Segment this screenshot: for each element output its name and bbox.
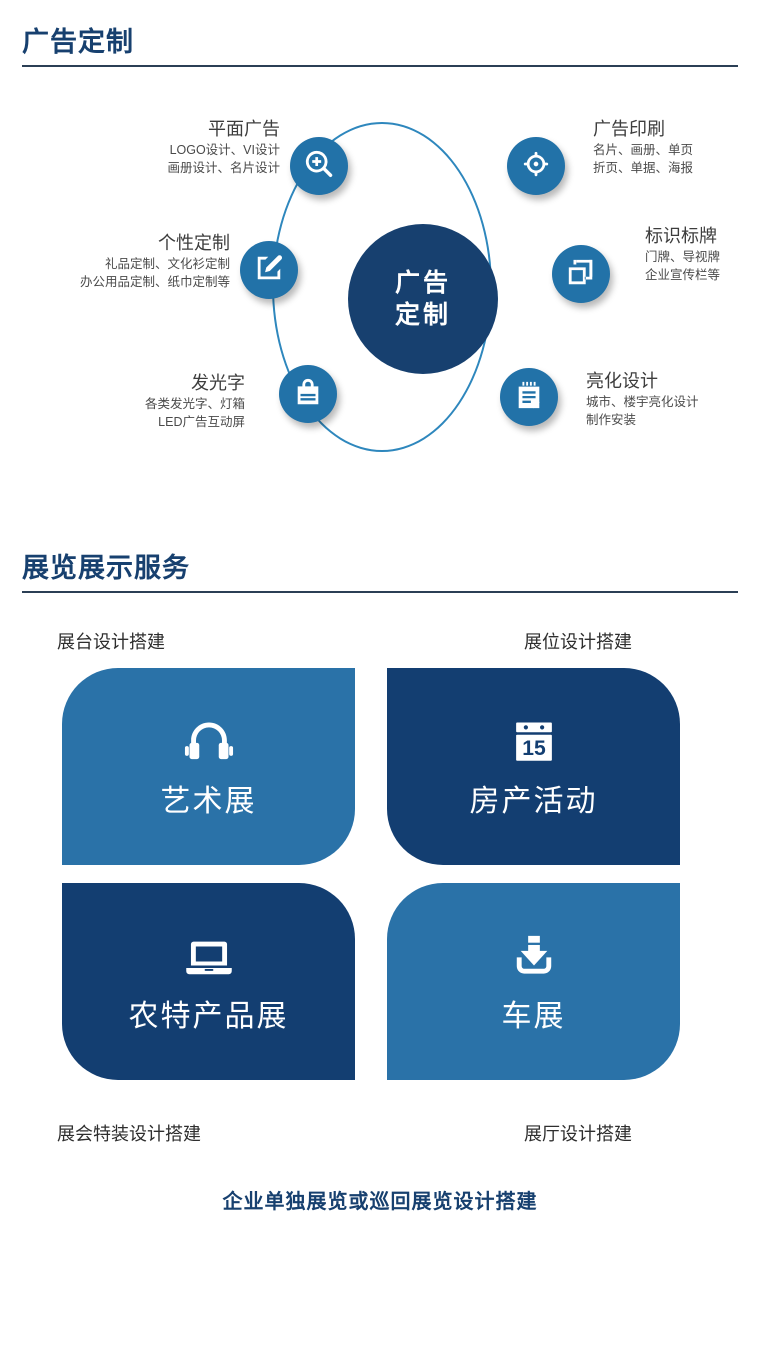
copy-layers-icon: [566, 257, 596, 292]
label-sub2: 企业宣传栏等: [645, 266, 760, 284]
tile-label: 艺术展: [161, 787, 257, 817]
diagram-label-graphic: 平面广告 LOGO设计、VI设计 画册设计、名片设计: [40, 118, 280, 177]
caption-special-decoration-design-build: 展会特装设计搭建: [57, 1120, 201, 1146]
tile-label: 农特产品展: [129, 1002, 289, 1032]
tile-label: 车展: [502, 1002, 566, 1032]
download-tray-icon: [508, 931, 560, 988]
bottom-caption-row: 展会特装设计搭建 展厅设计搭建: [0, 1120, 760, 1160]
caption-stand-design-build: 展位设计搭建: [524, 628, 632, 654]
diagram-label-print: 广告印刷 名片、画册、单页 折页、单据、海报: [593, 118, 758, 177]
label-lead: 发光字: [20, 372, 245, 395]
tile-label: 房产活动: [470, 787, 598, 817]
label-sub1: 各类发光字、灯箱: [20, 395, 245, 413]
caption-booth-design-build: 展台设计搭建: [57, 628, 165, 654]
headphones-icon: [183, 716, 235, 773]
label-sub2: 办公用品定制、纸巾定制等: [10, 273, 230, 291]
tile-auto-show[interactable]: 车展: [387, 883, 680, 1080]
exhibition-section-header: 展览展示服务: [22, 554, 738, 593]
tile-agricultural-products-exhibition[interactable]: 农特产品展: [62, 883, 355, 1080]
center-title-line2: 定制: [395, 299, 451, 332]
header-divider: [22, 65, 738, 67]
diagram-label-lightbox: 发光字 各类发光字、灯箱 LED广告互动屏: [20, 372, 245, 431]
label-sub1: 名片、画册、单页: [593, 141, 758, 159]
label-lead: 平面广告: [40, 118, 280, 141]
tile-art-exhibition[interactable]: 艺术展: [62, 668, 355, 865]
tile-real-estate-event[interactable]: 15 房产活动: [387, 668, 680, 865]
label-sub1: 礼品定制、文化衫定制: [10, 255, 230, 273]
node-custom-advertising[interactable]: [240, 241, 298, 299]
label-lead: 个性定制: [10, 232, 230, 255]
node-graphic-advertising[interactable]: [290, 137, 348, 195]
exhibition-tiles-area: 展台设计搭建 展位设计搭建 艺术展: [0, 628, 760, 668]
label-sub2: 折页、单据、海报: [593, 159, 758, 177]
diagram-label-lighting: 亮化设计 城市、楼宇亮化设计 制作安装: [586, 370, 760, 429]
svg-text:15: 15: [522, 737, 546, 760]
node-lightbox-advertising[interactable]: [279, 365, 337, 423]
center-title-line1: 广告: [395, 267, 451, 300]
clipboard-check-icon: [514, 380, 544, 415]
exhibition-footer-note: 企业单独展览或巡回展览设计搭建: [0, 1185, 760, 1214]
page-title-exhibition: 展览展示服务: [22, 554, 738, 584]
diagram-label-sign: 标识标牌 门牌、导视牌 企业宣传栏等: [645, 225, 760, 284]
label-sub2: 画册设计、名片设计: [40, 159, 280, 177]
label-lead: 标识标牌: [645, 225, 760, 248]
label-lead: 亮化设计: [586, 370, 760, 393]
page-title-advertising: 广告定制: [22, 28, 738, 58]
label-sub1: 城市、楼宇亮化设计: [586, 393, 760, 411]
top-caption-row: 展台设计搭建 展位设计搭建: [0, 628, 760, 668]
node-lighting-advertising[interactable]: [500, 368, 558, 426]
shopping-bag-icon: [293, 377, 323, 412]
caption-showroom-design-build: 展厅设计搭建: [524, 1120, 632, 1146]
crosshair-target-icon: [521, 149, 551, 184]
node-print-advertising[interactable]: [507, 137, 565, 195]
label-sub1: 门牌、导视牌: [645, 248, 760, 266]
label-lead: 广告印刷: [593, 118, 758, 141]
node-sign-advertising[interactable]: [552, 245, 610, 303]
advertising-section-header: 广告定制: [22, 28, 738, 67]
calendar-15-icon: 15: [508, 716, 560, 773]
label-sub1: LOGO设计、VI设计: [40, 141, 280, 159]
magnifier-plus-icon: [304, 149, 334, 184]
label-sub2: 制作安装: [586, 411, 760, 429]
label-sub2: LED广告互动屏: [20, 413, 245, 431]
exhibition-tile-grid: 艺术展 15 房产活动: [62, 668, 698, 1080]
laptop-icon: [183, 931, 235, 988]
diagram-label-custom: 个性定制 礼品定制、文化衫定制 办公用品定制、纸巾定制等: [10, 232, 230, 291]
header-divider: [22, 591, 738, 593]
pencil-edit-icon: [254, 253, 284, 288]
advertising-circle-diagram: 广告 定制: [0, 100, 760, 480]
diagram-center-circle: 广告 定制: [348, 224, 498, 374]
